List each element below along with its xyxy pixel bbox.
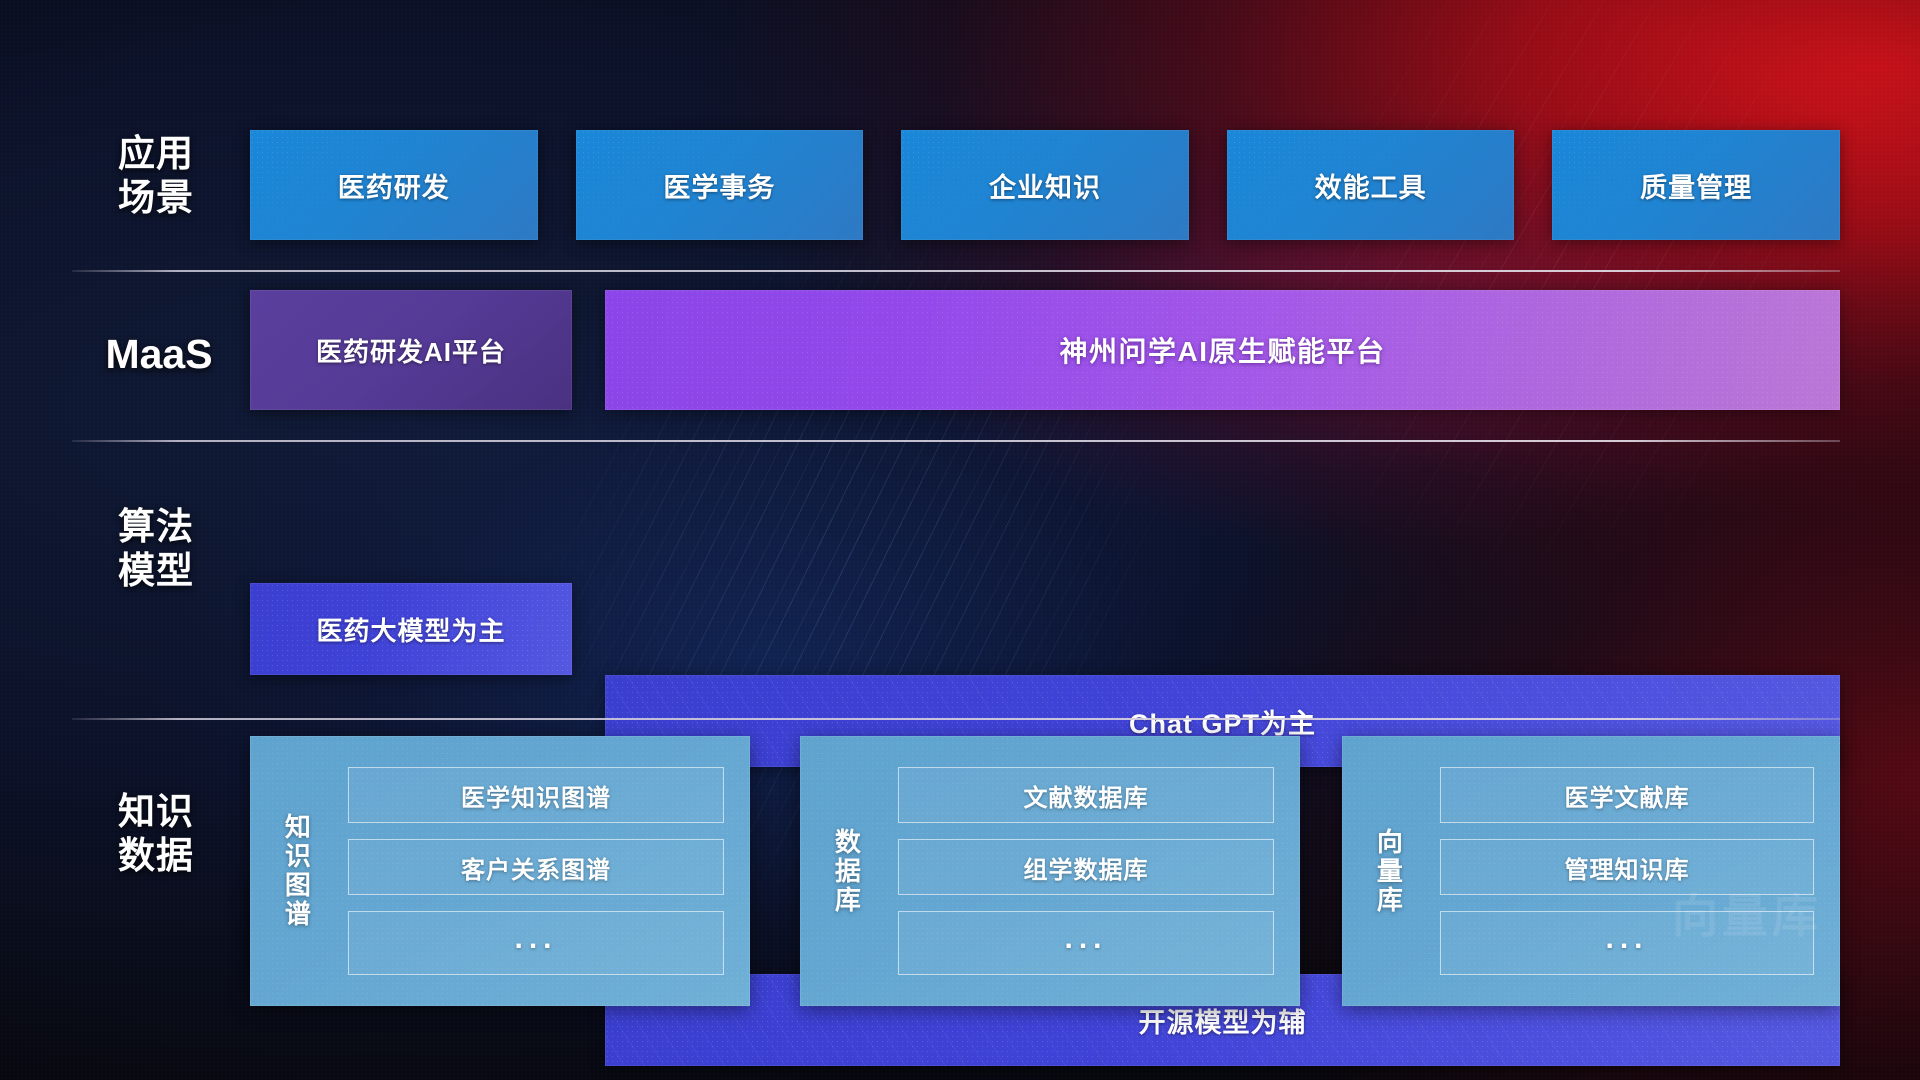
knowledge-item[interactable]: 文献数据库 <box>898 767 1274 823</box>
maas-platform-card-right[interactable]: 神州问学AI原生赋能平台 <box>605 290 1840 410</box>
row-label-application-line1: 应用 <box>96 132 216 176</box>
row-label-algorithm: 算法 模型 <box>96 505 216 592</box>
card-texture-overlay <box>250 130 538 240</box>
row-divider-2 <box>72 440 1840 442</box>
row-label-knowledge: 知识 数据 <box>96 790 216 877</box>
scenario-card-3[interactable]: 企业知识 <box>901 130 1189 240</box>
card-texture-overlay <box>576 130 864 240</box>
row-label-application: 应用 场景 <box>96 132 216 219</box>
scenario-card-5[interactable]: 质量管理 <box>1552 130 1840 240</box>
knowledge-group-graph-title: 知识图谱 <box>250 736 342 1006</box>
knowledge-group-vector[interactable]: 向量库 向量库 医学文献库 管理知识库 ... <box>1342 736 1840 1006</box>
scenario-card-2[interactable]: 医学事务 <box>576 130 864 240</box>
knowledge-item-more[interactable]: ... <box>898 911 1274 975</box>
knowledge-item[interactable]: 医学文献库 <box>1440 767 1814 823</box>
knowledge-item[interactable]: 组学数据库 <box>898 839 1274 895</box>
card-texture-overlay <box>250 583 572 675</box>
knowledge-group-database-items: 文献数据库 组学数据库 ... <box>892 736 1300 1006</box>
knowledge-group-vector-items: 医学文献库 管理知识库 ... <box>1434 736 1840 1006</box>
row-label-algorithm-line1: 算法 <box>96 505 216 549</box>
row-label-application-line2: 场景 <box>96 176 216 220</box>
knowledge-item-more[interactable]: ... <box>348 911 724 975</box>
knowledge-group-graph-items: 医学知识图谱 客户关系图谱 ... <box>342 736 750 1006</box>
diagram-content: 应用 场景 医药研发 医学事务 企业知识 效能工具 质量管理 <box>0 0 1920 1080</box>
knowledge-item[interactable]: 管理知识库 <box>1440 839 1814 895</box>
scenario-card-4[interactable]: 效能工具 <box>1227 130 1515 240</box>
knowledge-group-graph[interactable]: 知识图谱 医学知识图谱 客户关系图谱 ... <box>250 736 750 1006</box>
card-texture-overlay <box>1552 130 1840 240</box>
diagram-canvas: 应用 场景 医药研发 医学事务 企业知识 效能工具 质量管理 <box>0 0 1920 1080</box>
knowledge-group-database[interactable]: 数据库 文献数据库 组学数据库 ... <box>800 736 1300 1006</box>
card-texture-overlay <box>901 130 1189 240</box>
application-scenario-row: 医药研发 医学事务 企业知识 效能工具 质量管理 <box>250 130 1840 240</box>
card-texture-overlay <box>605 290 1840 410</box>
maas-platform-card-left-label: 医药研发AI平台 <box>316 332 506 369</box>
row-label-algorithm-line2: 模型 <box>96 549 216 593</box>
knowledge-item[interactable]: 客户关系图谱 <box>348 839 724 895</box>
knowledge-group-vector-title: 向量库 <box>1342 736 1434 1006</box>
knowledge-item-more[interactable]: ... <box>1440 911 1814 975</box>
card-texture-overlay <box>1227 130 1515 240</box>
scenario-card-1[interactable]: 医药研发 <box>250 130 538 240</box>
algorithm-card-primary-domain[interactable]: 医药大模型为主 <box>250 583 572 675</box>
maas-platform-card-left[interactable]: 医药研发AI平台 <box>250 290 572 410</box>
row-label-knowledge-line2: 数据 <box>96 834 216 878</box>
knowledge-item[interactable]: 医学知识图谱 <box>348 767 724 823</box>
row-divider-3 <box>72 718 1840 720</box>
row-label-knowledge-line1: 知识 <box>96 790 216 834</box>
row-label-maas: MaaS <box>84 330 234 378</box>
knowledge-group-database-title: 数据库 <box>800 736 892 1006</box>
row-divider-1 <box>72 270 1840 272</box>
